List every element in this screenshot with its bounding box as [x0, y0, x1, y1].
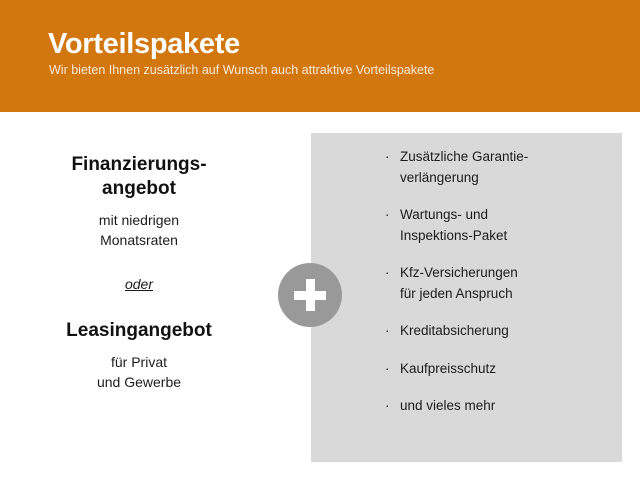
bullet-icon: · [385, 396, 390, 417]
list-item: · Zusätzliche Garantie- verlängerung [385, 147, 610, 188]
page-title: Vorteilspakete [48, 30, 240, 59]
list-item: · und vieles mehr [385, 396, 610, 417]
list-item-line2: verlängerung [400, 170, 479, 185]
plus-badge [278, 263, 342, 327]
list-item-line2: für jeden Anspruch [400, 286, 513, 301]
list-item-line1: Kfz-Versicherungen [400, 265, 518, 280]
financing-offer-description-line2: Monatsraten [0, 231, 278, 251]
bullet-icon: · [385, 263, 390, 284]
header-banner: Vorteilspakete Wir bieten Ihnen zusätzli… [0, 0, 640, 112]
bullet-icon: · [385, 147, 390, 168]
or-divider-label: oder [0, 276, 278, 292]
plus-icon-vertical-bar [306, 279, 315, 311]
bullet-icon: · [385, 205, 390, 226]
financing-offer-heading-line1: Finanzierungs- [0, 153, 278, 177]
leasing-offer-heading: Leasingangebot [0, 319, 278, 343]
list-item-line1: Kreditabsicherung [400, 323, 509, 338]
leasing-offer-description-line2: und Gewerbe [0, 373, 278, 393]
list-item-line1: Kaufpreisschutz [400, 361, 496, 376]
financing-offer-description: mit niedrigen Monatsraten [0, 211, 278, 251]
leasing-offer-description: für Privat und Gewerbe [0, 353, 278, 393]
list-item-line1: Wartungs- und [400, 207, 488, 222]
list-item-line2: Inspektions-Paket [400, 228, 507, 243]
financing-offer-heading: Finanzierungs- angebot [0, 153, 278, 202]
bullet-icon: · [385, 321, 390, 342]
financing-offer-description-line1: mit niedrigen [0, 211, 278, 231]
list-item: · Wartungs- und Inspektions-Paket [385, 205, 610, 246]
page-subtitle: Wir bieten Ihnen zusätzlich auf Wunsch a… [49, 64, 434, 77]
bullet-icon: · [385, 359, 390, 380]
list-item-line1: und vieles mehr [400, 398, 495, 413]
list-item: · Kaufpreisschutz [385, 359, 610, 380]
list-item: · Kfz-Versicherungen für jeden Anspruch [385, 263, 610, 304]
offers-column: Finanzierungs- angebot mit niedrigen Mon… [0, 133, 278, 392]
list-item-line1: Zusätzliche Garantie- [400, 149, 528, 164]
benefits-panel: · Zusätzliche Garantie- verlängerung · W… [311, 133, 622, 462]
list-item: · Kreditabsicherung [385, 321, 610, 342]
benefits-list: · Zusätzliche Garantie- verlängerung · W… [385, 147, 610, 417]
plus-icon [278, 263, 342, 327]
leasing-offer-description-line1: für Privat [0, 353, 278, 373]
financing-offer-heading-line2: angebot [0, 177, 278, 201]
slide-root: Vorteilspakete Wir bieten Ihnen zusätzli… [0, 0, 640, 480]
